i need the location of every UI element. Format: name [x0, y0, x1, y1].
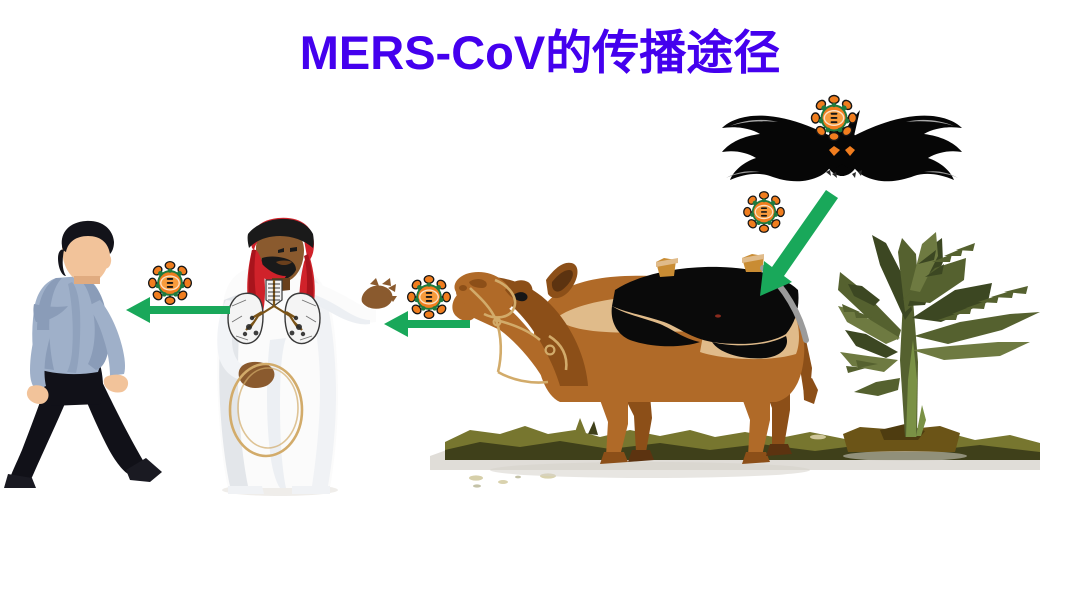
virus-particles — [0, 0, 1080, 591]
slide-canvas: MERS-CoV的传播途径 — [0, 0, 1080, 591]
virus-bat-top — [812, 96, 857, 141]
virus-man-to-human — [149, 262, 192, 305]
virus-bat-mid — [744, 192, 785, 233]
virus-camel-to-man — [408, 276, 451, 319]
